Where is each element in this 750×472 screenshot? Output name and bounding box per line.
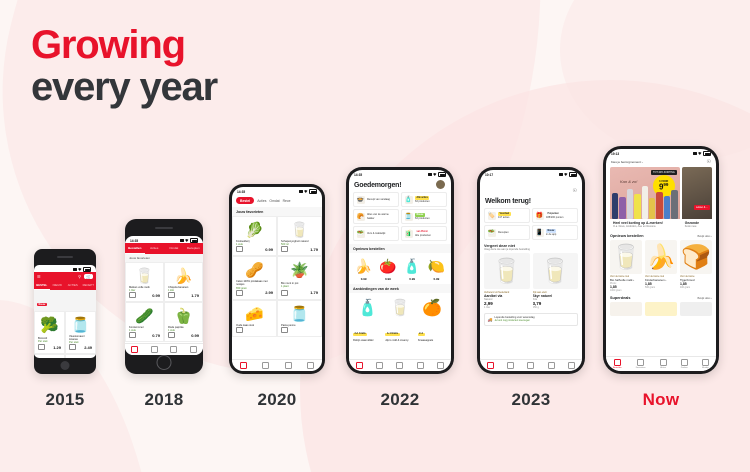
reorder-price: 0.99 <box>377 277 398 281</box>
product-image: 🥛 <box>533 253 579 289</box>
product-cell[interactable]: 🥬 Knolselderij 1 stuk 0.99 <box>232 216 277 256</box>
section-header-reorder: Opnieuw bestellen Bekijk alles › <box>606 230 716 240</box>
hero-row: TOT 40% KORTING Kan & zo! 3 VOOR 999 <box>606 167 716 230</box>
bestellen-icon-glyph <box>614 359 621 366</box>
product-text: Bio munt in pot 1 plant <box>281 282 318 288</box>
offer-image: 🍊 <box>418 295 447 321</box>
product-price: 1.29 <box>53 345 61 350</box>
tile[interactable]: 🍲 Recept van vandaag <box>353 192 399 207</box>
tile-text: Vers & makkelijk <box>367 232 385 235</box>
tile-text: Nieuw 63 producten <box>415 213 430 221</box>
tile-icon: 📱 <box>536 229 544 237</box>
product-image: 🫙 <box>281 304 318 324</box>
bottle <box>656 192 662 219</box>
product-card[interactable]: 🥛 Verbeterd uit Nederland Aardbei vla Na… <box>484 253 530 310</box>
status-icons <box>559 172 578 177</box>
section-title-badge: Nieuw <box>34 290 96 311</box>
product-text: Vleestomaat / Ananas Per stuk <box>69 335 92 344</box>
add-to-cart-icon[interactable] <box>69 344 76 350</box>
superdeals-list <box>606 302 716 316</box>
tab-recept[interactable]: RECEPT <box>81 281 97 290</box>
offer-badge: 1+1 Gratis <box>385 333 399 336</box>
section-header-superdeals: Superdeals Bekijk alles › <box>606 292 716 302</box>
tile-label: Recept van vandaag <box>367 198 390 201</box>
product-sub: Per stuk <box>38 340 61 343</box>
reorder-card[interactable]: 🧴 0.99 <box>402 255 423 281</box>
timeline-slot-2020: 14:35 BestelActiesOmdatRece Jouw favorie… <box>229 184 325 410</box>
add-to-cart-icon[interactable] <box>129 332 136 338</box>
bottle <box>627 189 633 219</box>
tile[interactable]: 🎁 Potpunten 188/200 punten <box>532 208 578 223</box>
tab-omdat[interactable]: Omdat <box>269 199 279 203</box>
zoeken-icon[interactable] <box>548 362 555 369</box>
battery-icon <box>438 172 446 177</box>
tile-icon: 🏷️ <box>488 212 496 220</box>
product-price: 2.49 <box>84 345 92 350</box>
bottom-navigation[interactable] <box>125 343 203 355</box>
tab-acties[interactable]: Acties <box>145 243 165 254</box>
tab-bar[interactable]: BestelActiesOmdatRece <box>232 194 322 207</box>
product-image: 🫑 <box>168 306 199 326</box>
reorder-unit: 1000 gram <box>610 289 642 292</box>
phone-screen[interactable]: 19:13 Kies je bezorgmoment › ☉ TOT 40% K… <box>606 149 716 371</box>
year-label-2023: 2023 <box>511 390 550 410</box>
offer-card[interactable]: 🍊 2+1 Sinaasappels <box>418 295 447 342</box>
reorder-image: 🍌 <box>645 240 677 274</box>
phone-iphone-13: 10:17 ☉ Welkom terug! 🏷️ Voordeel 417 ac… <box>477 167 585 374</box>
offer-badge-row: 1+1 Gratis <box>385 321 414 339</box>
reorder-list: 🍌 0.99 🍅 0.99 🧴 0.99 🍋 0.99 <box>349 253 451 281</box>
reorder-image: 🍞 <box>680 240 712 274</box>
nav-label: Acties <box>660 367 666 369</box>
product-price: 1.79 <box>310 247 318 252</box>
reorder-card[interactable]: 🍅 0.99 <box>377 255 398 281</box>
section-title: Jouw favorieten <box>232 207 322 216</box>
reorder-image: 🥛 <box>610 240 642 274</box>
tile-label: Alles van de warme bakker <box>367 213 389 219</box>
add-to-cart-icon[interactable] <box>236 246 243 252</box>
product-footer: 1.29 <box>38 344 61 350</box>
product-image: 🥛 <box>129 266 160 286</box>
tas-icon[interactable] <box>437 362 444 369</box>
bottle <box>642 186 648 219</box>
add-to-cart-icon[interactable] <box>281 327 288 333</box>
reorder-price: 0.99 <box>353 277 374 281</box>
offers-list: 🧴 2+1 Gratis Robijn wasmiddel 🥛 1+1 Grat… <box>349 293 451 342</box>
hero2-image: Lekker & ... <box>682 167 712 219</box>
hero-subtitle: O.a. Dove, Andrélon, Axe en Rexona <box>610 225 680 230</box>
product-footer <box>236 327 273 333</box>
earpiece-speaker <box>57 256 73 258</box>
reorder-image: 🧴 <box>402 255 423 277</box>
section-header: Jouw favorieten <box>125 254 203 262</box>
product-price: 0.99 <box>152 293 160 298</box>
section-title-offers: Aanbiedingen van de week <box>349 284 451 293</box>
tile-icon: 🥗 <box>357 230 365 238</box>
status-bar: 14:35 <box>349 170 451 177</box>
reorder-card[interactable]: 🍌 Voor de kleine trek Kinderbananen › 1,… <box>645 240 677 292</box>
home-button[interactable] <box>157 355 172 370</box>
mandje-icon[interactable] <box>285 362 292 369</box>
phone-screen[interactable]: 14:35 BestelActiesOmdatRece Jouw favorie… <box>232 187 322 371</box>
bottle <box>649 198 655 219</box>
status-time: 14:35 <box>130 239 138 243</box>
product-list: 🥛 Verbeterd uit Nederland Aardbei vla Na… <box>480 253 582 310</box>
add-to-cart-icon[interactable] <box>168 292 175 298</box>
bestellen-icon[interactable]: Bestellen <box>613 359 622 369</box>
tile-label: in de app <box>546 233 556 236</box>
product-cell[interactable]: 🥒 Komkommer 1 stuk 0.79 <box>125 302 164 342</box>
add-to-cart-icon[interactable] <box>281 246 288 252</box>
status-time: 10:17 <box>485 173 493 177</box>
wifi-icon <box>78 268 82 271</box>
section-title-reorder: Opnieuw bestellen <box>349 244 451 253</box>
year-label-2015: 2015 <box>45 390 84 410</box>
reorder-price: 0.99 <box>402 277 423 281</box>
superdeal-card[interactable] <box>680 302 712 316</box>
section-link[interactable]: Bekijk alles › <box>697 235 712 238</box>
superdeal-card[interactable] <box>610 302 642 316</box>
winkel-icon[interactable] <box>131 346 138 353</box>
tab-recepten[interactable]: Recepten <box>184 243 204 254</box>
product-footer: 1.79 <box>281 290 318 296</box>
add-to-cart-icon[interactable] <box>236 290 243 296</box>
device-timeline: ☰ ⚲ 🛒 BESTELNIEUWACTIESRECEPT Nieuw 🥦 Br… <box>0 0 750 472</box>
tile-text: van Picnic Alle producten <box>415 230 431 238</box>
product-cell[interactable]: 🫑 Rode paprika 1 stuk 0.99 <box>164 302 203 342</box>
offer-name: Sinaasappels <box>418 339 447 342</box>
product-footer: 1.79 <box>168 292 199 298</box>
tile-label: 188/200 punten <box>546 216 563 219</box>
hero-script: Kan & zo! <box>620 179 637 184</box>
tile[interactable]: 🥐 Alles van de warme bakker <box>353 209 399 224</box>
product-image: 🪴 <box>281 260 318 280</box>
reorder-card[interactable]: 🍌 0.99 <box>353 255 374 281</box>
tab-acties[interactable]: Acties <box>257 199 266 203</box>
favorieten-icon-glyph <box>637 359 644 366</box>
greeting: Welkom terug! <box>480 197 582 208</box>
product-unit: 450 g <box>533 306 579 309</box>
tile-label: Recepten <box>498 231 509 234</box>
earpiece-speaker <box>155 227 173 229</box>
product-sub: 1 plant <box>281 285 318 288</box>
add-to-cart-icon[interactable] <box>236 327 243 333</box>
product-cell[interactable]: 🥛 Schapenyoghurt naturel 500 ml 1.79 <box>277 216 322 256</box>
tab-rece[interactable]: Rece <box>283 199 291 203</box>
status-bar: 14:35 <box>232 187 322 194</box>
search-icon[interactable]: ⚲ <box>78 274 81 279</box>
timeline-slot-2018: 14:35 BestellenActiesOmdatRecepten Jouw … <box>125 219 203 410</box>
add-to-cart-icon[interactable] <box>129 292 136 298</box>
year-label-2020: 2020 <box>257 390 296 410</box>
hero-products <box>612 185 678 219</box>
tile[interactable]: 📱 Nieuw in de app <box>532 225 578 240</box>
reorder-card[interactable]: 🍞 Voor de kleine Tijgerbrood 1,85 400 gr… <box>680 240 712 292</box>
product-grid: 🥬 Knolselderij 1 stuk 0.99 🥛 Schapenyogh… <box>232 216 322 337</box>
phone-iphone-8: 14:35 BestellenActiesOmdatRecepten Jouw … <box>125 219 203 374</box>
offer-name: Robijn wasmiddel <box>353 339 382 342</box>
add-to-cart-icon[interactable] <box>168 332 175 338</box>
nav-label: Favorieten <box>636 367 646 369</box>
phone-screen[interactable]: 10:17 ☉ Welkom terug! 🏷️ Voordeel 417 ac… <box>480 170 582 371</box>
nav-label: Zoeken <box>681 367 688 369</box>
product-text: Calvé 100% pindakaas met nootjes 650 gra… <box>236 280 273 289</box>
tab-bar[interactable]: BESTELNIEUWACTIESRECEPT <box>34 281 96 290</box>
product-price: 1.79 <box>310 290 318 295</box>
tile-icon: 🥗 <box>488 229 496 237</box>
lijst-icon[interactable] <box>151 346 158 353</box>
klok-icon[interactable] <box>376 362 383 369</box>
tile[interactable]: 🏷️ Voordeel 417 acties <box>484 208 530 223</box>
tab-nieuw[interactable]: NIEUW <box>50 281 66 290</box>
product-image: 🥒 <box>129 306 160 326</box>
acties-icon[interactable]: Acties <box>660 359 667 369</box>
product-price: 0.99 <box>191 333 199 338</box>
section-title: Opnieuw bestellen <box>610 234 644 238</box>
zoeken-icon[interactable]: Zoeken <box>681 359 688 369</box>
favorieten-icon[interactable]: Favorieten <box>636 359 646 369</box>
battery-icon <box>309 189 317 194</box>
product-image: 🫙 <box>69 315 92 335</box>
product-footer: 2.49 <box>69 344 92 350</box>
product-footer: 0.99 <box>236 246 273 252</box>
status-time: 14:35 <box>237 190 245 194</box>
home-button <box>61 361 70 370</box>
tile-grid: 🏷️ Voordeel 417 acties 🎁 Potpunten 188/2… <box>480 208 582 240</box>
status-icons <box>693 151 712 156</box>
battery-icon <box>83 267 91 272</box>
product-price: 1.79 <box>191 293 199 298</box>
product-price: 0.99 <box>265 247 273 252</box>
offer-image: 🧴 <box>353 295 382 321</box>
section-title: Nieuw <box>37 303 47 306</box>
wifi-icon <box>304 190 308 193</box>
order-banner[interactable]: 🚚 Lopende bestelling voor woensdag Je ku… <box>484 313 578 326</box>
tile-icon: 🥐 <box>357 213 365 221</box>
offer-name: Alpro mild & creamy <box>385 339 414 342</box>
product-footer: 0.99 <box>129 292 160 298</box>
wifi-icon <box>433 173 437 176</box>
tile-label: Alle producten <box>415 234 431 237</box>
superdeal-card[interactable] <box>645 302 677 316</box>
bottom-navigation[interactable]: Bestellen Favorieten Acties Zoeken Mandj… <box>606 356 716 371</box>
product-image: 🥛 <box>484 253 530 289</box>
acties-icon[interactable] <box>527 362 534 369</box>
year-label-now: Now <box>643 390 680 410</box>
tab-bestellen[interactable]: Bestellen <box>125 243 145 254</box>
timeline-slot-2023: 10:17 ☉ Welkom terug! 🏷️ Voordeel 417 ac… <box>477 167 585 410</box>
product-card[interactable]: 🥛 Rijk aan eiwit Skyr naturel Arla 3,79 … <box>533 253 579 310</box>
banner-text: Lopende bestelling voor woensdag Je kunt… <box>494 316 534 322</box>
account-icon[interactable]: ☉ <box>707 159 711 165</box>
tab-acties[interactable]: ACTIES <box>65 281 81 290</box>
tab-bar[interactable]: BestellenActiesOmdatRecepten <box>125 243 203 254</box>
offer-badge: 2+1 <box>418 333 425 336</box>
delivery-row: Kies je bezorgmoment › ☉ <box>606 156 716 167</box>
bottle <box>619 197 625 219</box>
reorder-price: 0.99 <box>426 277 447 281</box>
tab-bestel[interactable]: Bestel <box>236 197 254 204</box>
hero-card-secondary[interactable]: Lekker & ... Gezonde Kook mee <box>682 167 712 230</box>
signal-icon <box>73 268 77 271</box>
mandje-icon[interactable] <box>396 362 403 369</box>
bottle <box>664 196 670 219</box>
product-image: 🥬 <box>236 220 273 240</box>
product-price: 2.99 <box>265 290 273 295</box>
product-cell[interactable]: 🍌 Chiquita bananen 1 kilo 1.79 <box>164 262 203 302</box>
phone-iphone-11: 14:35 BestelActiesOmdatRece Jouw favorie… <box>229 184 325 374</box>
product-cell[interactable]: 🥛 Melkan volle melk 1 liter 0.99 <box>125 262 164 302</box>
signal-icon <box>428 173 432 176</box>
status-icons <box>428 172 447 177</box>
banner-sub: Je kunt nog producten toevoegen <box>494 319 534 322</box>
offer-card[interactable]: 🥛 1+1 Gratis Alpro mild & creamy <box>385 295 414 342</box>
truck-icon: 🚚 <box>488 317 493 322</box>
bottom-navigation[interactable] <box>232 359 322 371</box>
tile-label: Vers & makkelijk <box>367 232 385 235</box>
signal-icon <box>180 239 184 242</box>
nav-label: Bestellen <box>613 367 622 369</box>
product-cell[interactable]: 👨‍🍳 Wie is er nou? <box>65 354 96 358</box>
phone-screen[interactable]: 14:35 Goedemorgen! 🍲 Recept van vandaag … <box>349 170 451 371</box>
tile-label: 63 producten <box>415 217 430 220</box>
status-time: 19:13 <box>611 152 619 156</box>
tile[interactable]: 🧴 Alle acties 63 producten <box>401 192 447 207</box>
tab-omdat[interactable]: Omdat <box>164 243 184 254</box>
product-image: 🧀 <box>236 304 273 324</box>
mandje-icon[interactable] <box>170 346 177 353</box>
signal-icon <box>559 173 563 176</box>
battery-icon <box>569 172 577 177</box>
phone-iphone-12: 14:35 Goedemorgen! 🍲 Recept van vandaag … <box>346 167 454 374</box>
bottom-navigation[interactable] <box>349 359 451 371</box>
offer-badge-row: 2+1 Gratis <box>353 321 382 339</box>
product-image: 🥦 <box>38 315 61 335</box>
reorder-card[interactable]: 🥛 Voor de kleine trek Bio halfvolle melk… <box>610 240 642 292</box>
account-icon[interactable]: ☉ <box>573 188 577 194</box>
tile-icon: 🧴 <box>405 196 413 204</box>
section-title: Jouw favorieten <box>129 256 150 260</box>
timeline-slot-now: 19:13 Kies je bezorgmoment › ☉ TOT 40% K… <box>603 146 719 410</box>
product-image: 🍌 <box>168 266 199 286</box>
winkel-icon[interactable] <box>487 362 494 369</box>
tile-icon: 🫙 <box>405 213 413 221</box>
reorder-unit: 400 gram <box>680 286 712 289</box>
delivery-link[interactable]: Kies je bezorgmoment › <box>611 160 643 164</box>
reorder-unit: 500 gram <box>645 286 677 289</box>
product-grid: 🥦 Broccoli Per stuk 1.29 🫙 Vleestomaat /… <box>34 311 96 358</box>
tab-bestel[interactable]: BESTEL <box>34 281 50 290</box>
winkelwagen-icon[interactable]: Mandje <box>702 359 709 369</box>
offer-badge: 2+1 Gratis <box>353 333 367 336</box>
status-bar: 19:13 <box>606 149 716 156</box>
tile-icon: 🎁 <box>536 212 544 220</box>
product-cell[interactable]: 🫙 Pasta penne <box>277 300 322 337</box>
reorder-image: 🍌 <box>353 255 374 277</box>
phone-screen[interactable]: 14:35 BestellenActiesOmdatRecepten Jouw … <box>125 236 203 355</box>
tile-grid: 🍲 Recept van vandaag 🧴 Alle acties 63 pr… <box>349 192 451 241</box>
greeting: Goedemorgen! <box>349 177 406 192</box>
menu-icon[interactable]: ☰ <box>37 274 41 279</box>
account-icon[interactable] <box>190 346 197 353</box>
zoeken-icon-glyph <box>681 359 688 366</box>
bottle <box>612 193 618 219</box>
avatar[interactable] <box>436 180 445 189</box>
greeting-row: Goedemorgen! <box>349 177 451 192</box>
offer-card[interactable]: 🧴 2+1 Gratis Robijn wasmiddel <box>353 295 382 342</box>
product-cell[interactable]: 🫙 Vleestomaat / Ananas Per stuk 2.49 <box>65 311 96 354</box>
product-cell[interactable]: 🥦 Broccoli Per stuk 1.29 <box>34 311 65 354</box>
phone-iphone-15-pro: 19:13 Kies je bezorgmoment › ☉ TOT 40% K… <box>603 146 719 374</box>
status-bar <box>34 265 96 272</box>
wifi-icon <box>698 152 702 155</box>
phone-iphone-4s: ☰ ⚲ 🛒 BESTELNIEUWACTIESRECEPT Nieuw 🥦 Br… <box>34 249 96 374</box>
status-icons <box>73 267 92 272</box>
winkel-icon[interactable] <box>240 362 247 369</box>
section-subtitle: Voeg deze toe aan je lopende bestelling <box>484 248 578 251</box>
tile[interactable]: 🫙 Nieuw 63 producten <box>401 209 447 224</box>
reorder-image: 🍅 <box>377 255 398 277</box>
favorieten-icon[interactable] <box>507 362 514 369</box>
reorder-image: 🍋 <box>426 255 447 277</box>
product-cell[interactable]: 🫑 Rode paprika Per stuk 0.99 <box>34 354 65 358</box>
bottle <box>671 190 677 219</box>
lijst-icon[interactable] <box>262 362 269 369</box>
tile-text: Alle acties 63 producten <box>415 196 430 204</box>
wifi-icon <box>185 239 189 242</box>
tile-text: Nieuw in de app <box>546 229 556 237</box>
product-unit: 1 liter <box>484 306 530 309</box>
winkel-icon[interactable] <box>356 362 363 369</box>
tile[interactable]: 🥗 Recepten <box>484 225 530 240</box>
add-to-cart-icon[interactable] <box>38 344 45 350</box>
section-title-superdeals: Superdeals <box>610 296 630 300</box>
nav-label: Mandje <box>702 367 709 369</box>
acties-icon-glyph <box>660 359 667 366</box>
product-cell[interactable]: 🧀 Oude kaas stuk <box>232 300 277 337</box>
winkelwagen-icon-glyph <box>702 359 709 366</box>
tile-label: 417 acties <box>498 216 509 219</box>
product-cell[interactable]: 🪴 Bio munt in pot 1 plant 1.79 <box>277 256 322 299</box>
account-icon[interactable] <box>307 362 314 369</box>
product-image: 🥛 <box>281 220 318 240</box>
offer-image: 🥛 <box>385 295 414 321</box>
product-grid: 🥛 Melkan volle melk 1 liter 0.99 🍌 Chiqu… <box>125 262 203 342</box>
wifi-icon <box>564 173 568 176</box>
reorder-card[interactable]: 🍋 0.99 <box>426 255 447 281</box>
section-link-superdeals[interactable]: Bekijk alles › <box>697 297 712 300</box>
status-time: 14:35 <box>354 173 362 177</box>
status-icons <box>299 189 318 194</box>
tile-text: Recepten <box>498 231 509 234</box>
product-cell[interactable]: 🥜 Calvé 100% pindakaas met nootjes 650 g… <box>232 256 277 299</box>
bottom-navigation[interactable] <box>480 359 582 371</box>
add-to-cart-icon[interactable] <box>281 290 288 296</box>
mandje-icon[interactable] <box>568 362 575 369</box>
section-header: Vergeet deze niet Voeg deze toe aan je l… <box>480 240 582 253</box>
phone-screen[interactable]: ☰ ⚲ 🛒 BESTELNIEUWACTIESRECEPT Nieuw 🥦 Br… <box>34 265 96 358</box>
tile-icon: 🍲 <box>357 196 365 204</box>
tile[interactable]: 🥗 Vers & makkelijk <box>353 226 399 241</box>
tile[interactable]: 🧃 van Picnic Alle producten <box>401 226 447 241</box>
zoek-icon[interactable] <box>417 362 424 369</box>
account-row: ☉ <box>480 177 582 197</box>
cart-icon[interactable]: 🛒 <box>84 274 93 279</box>
status-bar: 14:35 <box>125 236 203 243</box>
hero-card[interactable]: TOT 40% KORTING Kan & zo! 3 VOOR 999 <box>610 167 680 230</box>
hero-image: TOT 40% KORTING Kan & zo! 3 VOOR 999 <box>610 167 680 219</box>
timeline-slot-2022: 14:35 Goedemorgen! 🍲 Recept van vandaag … <box>346 167 454 410</box>
